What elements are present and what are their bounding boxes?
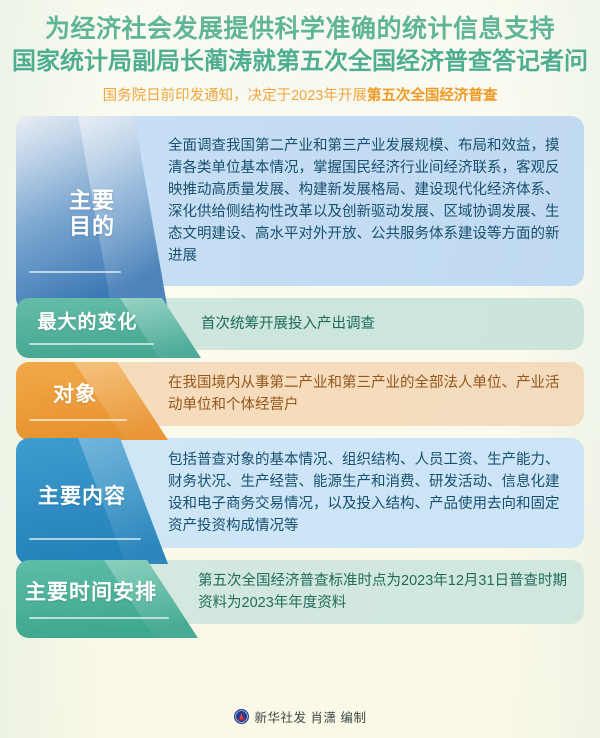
section-main-content: 包括普查对象的基本情况、组织结构、人员工资、生产能力、财务状况、生产经营、能源生…	[16, 438, 584, 548]
section-body-main-content: 包括普查对象的基本情况、组织结构、人员工资、生产能力、财务状况、生产经营、能源生…	[16, 438, 584, 548]
xinhua-emblem-icon	[235, 710, 248, 723]
section-body-biggest-change: 首次统筹开展投入产出调查	[16, 298, 584, 350]
section-text-main-purpose: 全面调查我国第二产业和第三产业发展规模、布局和效益，摸清各类单位基本情况，掌握国…	[168, 127, 584, 275]
section-text-biggest-change: 首次统筹开展投入产出调查	[201, 303, 391, 345]
section-body-object: 在我国境内从事第二产业和第三产业的全部法人单位、产业活动单位和个体经营户	[16, 362, 584, 426]
poster-subtitle: 国务院日前印发通知，决定于2023年开展第五次全国经济普查	[12, 87, 588, 106]
infographic-poster: 为经济社会发展提供科学准确的统计信息支持 国家统计局副局长蔺涛就第五次全国经济普…	[0, 0, 600, 738]
poster-title-line-1: 为经济社会发展提供科学准确的统计信息支持	[12, 14, 588, 46]
section-body-timetable: 第五次全国经济普查标准时点为2023年12月31日普查时期资料为2023年年度资…	[16, 560, 584, 624]
subtitle-normal-text: 国务院日前印发通知，决定于2023年开展	[103, 88, 367, 104]
subtitle-strong-text: 第五次全国经济普查	[367, 88, 498, 104]
section-text-main-content: 包括普查对象的基本情况、组织结构、人员工资、生产能力、财务状况、生产经营、能源生…	[168, 439, 584, 547]
section-object: 在我国境内从事第二产业和第三产业的全部法人单位、产业活动单位和个体经营户	[16, 362, 584, 426]
section-list: 全面调查我国第二产业和第三产业发展规模、布局和效益，摸清各类单位基本情况，掌握国…	[0, 116, 600, 624]
footer-credit-text: 新华社发 肖潇 编制	[255, 707, 367, 726]
section-biggest-change: 首次统筹开展投入产出调查	[16, 298, 584, 350]
section-main-purpose: 全面调查我国第二产业和第三产业发展规模、布局和效益，摸清各类单位基本情况，掌握国…	[16, 116, 584, 286]
poster-header: 为经济社会发展提供科学准确的统计信息支持 国家统计局副局长蔺涛就第五次全国经济普…	[0, 0, 600, 106]
section-body-main-purpose: 全面调查我国第二产业和第三产业发展规模、布局和效益，摸清各类单位基本情况，掌握国…	[16, 116, 584, 286]
poster-footer: 新华社发 肖潇 编制	[0, 707, 600, 726]
section-text-object: 在我国境内从事第二产业和第三产业的全部法人单位、产业活动单位和个体经营户	[168, 362, 584, 426]
xinhua-logo-icon	[234, 709, 249, 724]
poster-title-line-2: 国家统计局副局长蔺涛就第五次全国经济普查答记者问	[12, 47, 588, 78]
section-timetable: 第五次全国经济普查标准时点为2023年12月31日普查时期资料为2023年年度资…	[16, 560, 584, 624]
section-text-timetable: 第五次全国经济普查标准时点为2023年12月31日普查时期资料为2023年年度资…	[198, 560, 584, 624]
